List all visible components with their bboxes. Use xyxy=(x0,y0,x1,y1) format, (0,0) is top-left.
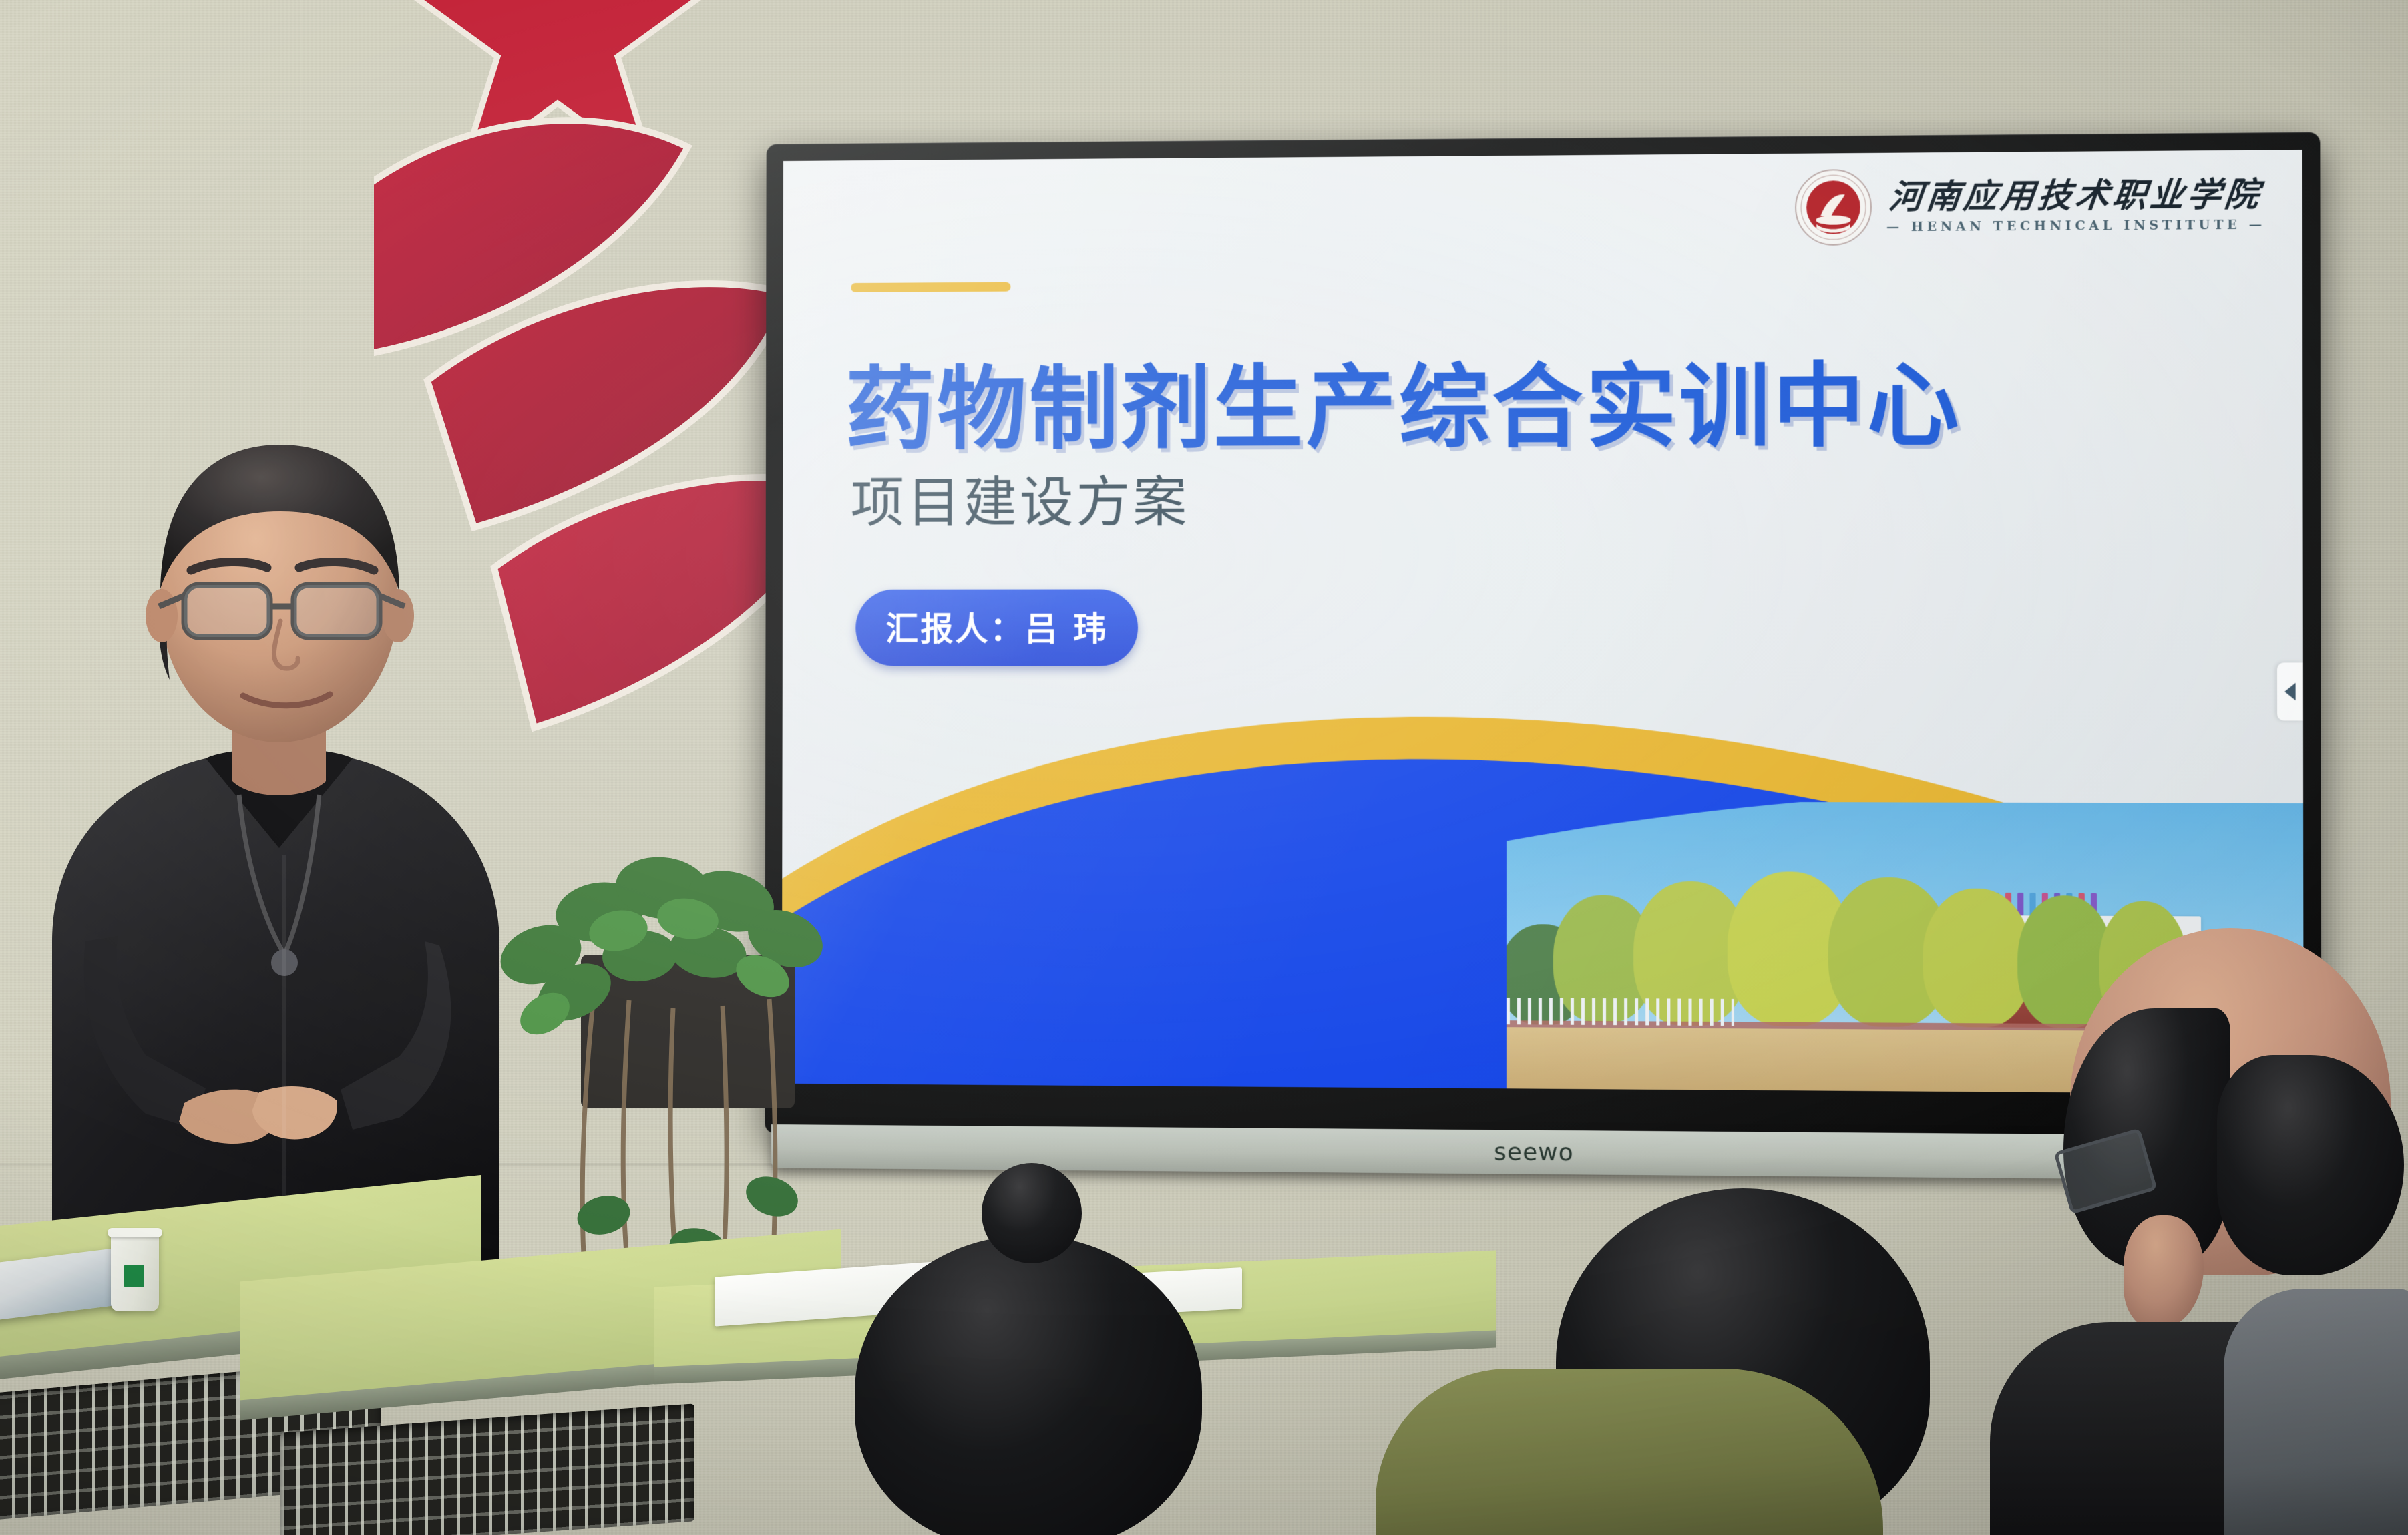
audience-hair-bun xyxy=(982,1163,1082,1263)
slide-title: 药物制剂生产综合实训中心 xyxy=(845,332,1962,467)
institution-seal-icon xyxy=(1794,168,1873,247)
under-desk-basket-mid xyxy=(280,1403,694,1535)
title-accent-bar xyxy=(851,282,1010,292)
institution-logo: 河南应用技术职业学院 — HENAN TECHNICAL INSTITUTE — xyxy=(1794,165,2266,247)
presenter-badge: 汇报人：吕 玮 xyxy=(855,589,1138,666)
cup-logo xyxy=(124,1265,144,1287)
chevron-left-icon xyxy=(2284,683,2295,700)
display-brand-label: seewo xyxy=(1494,1138,1574,1166)
audience-shoulder-right-grey xyxy=(2224,1289,2408,1535)
slide-subtitle: 项目建设方案 xyxy=(851,458,1190,537)
screenshot-root: 忠诚 干净 担当 xyxy=(0,0,2408,1535)
logo-english-name: — HENAN TECHNICAL INSTITUTE — xyxy=(1886,217,2266,234)
logo-chinese-name: 河南应用技术职业学院 xyxy=(1888,177,2264,213)
potted-plant xyxy=(461,788,835,1309)
side-panel-toggle[interactable] xyxy=(2277,662,2303,720)
paper-cup xyxy=(111,1233,159,1311)
audience-ear-right xyxy=(2124,1215,2204,1329)
audience-shoulder-olive xyxy=(1376,1369,1883,1535)
audience-hair-right-back xyxy=(2217,1055,2404,1275)
audience-member-left xyxy=(815,1235,1242,1535)
audience-head xyxy=(855,1235,1202,1535)
